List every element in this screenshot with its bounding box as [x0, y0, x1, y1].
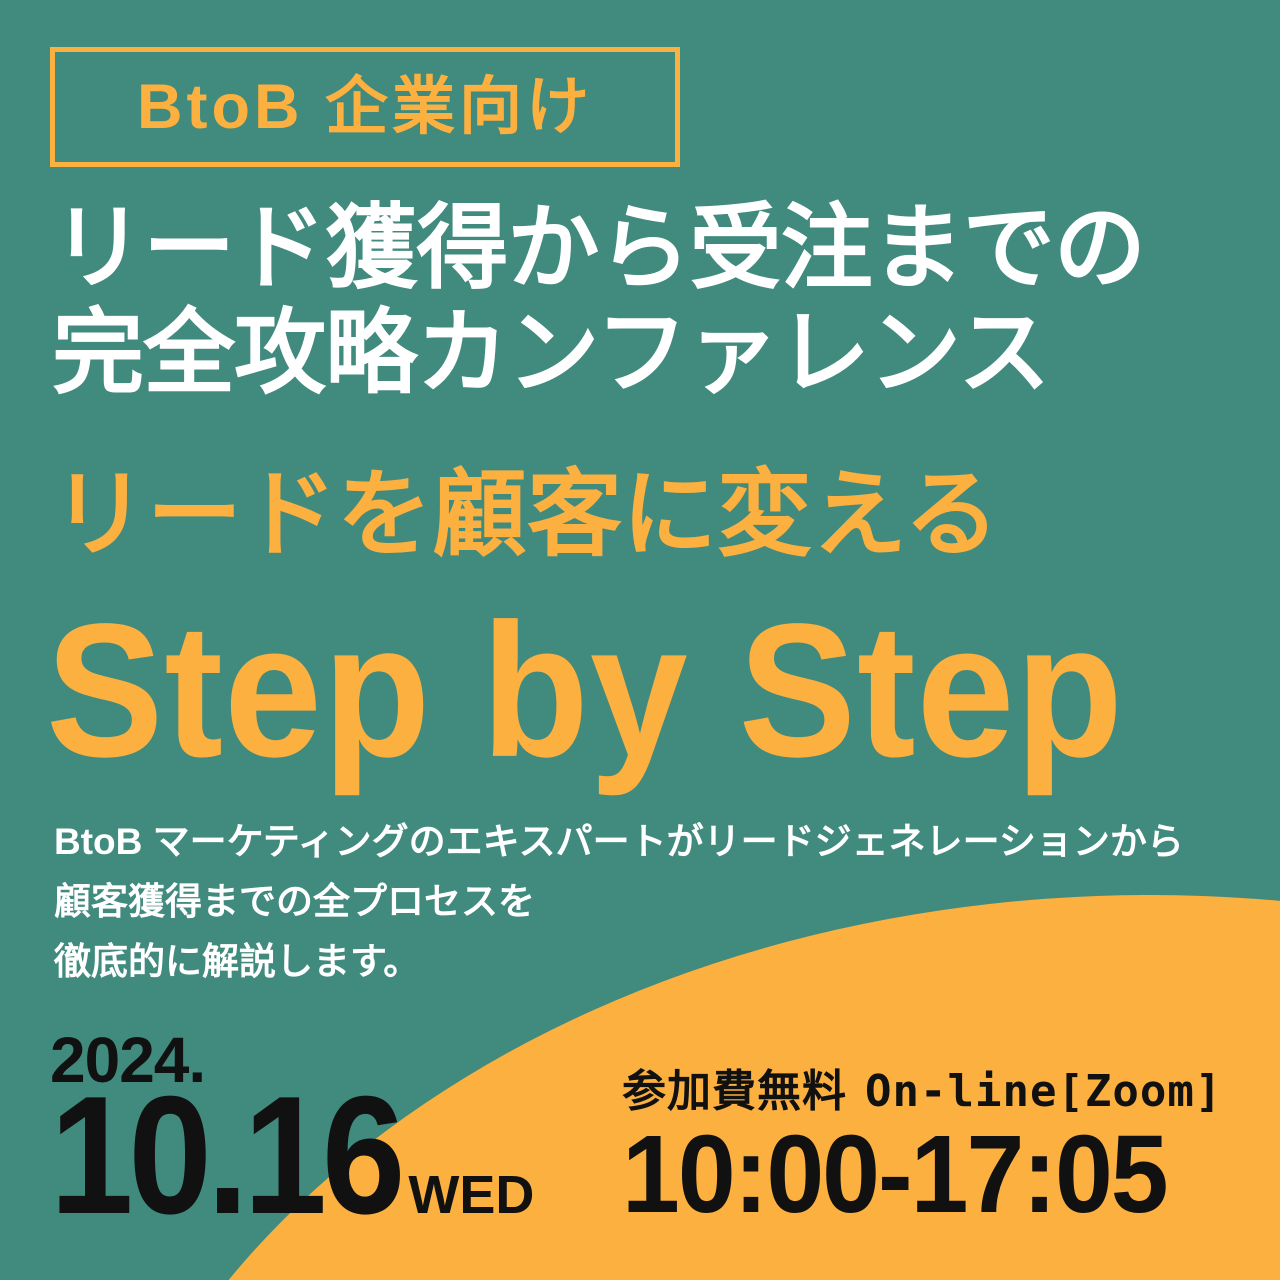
- tagline-text: Step by Step: [46, 596, 1266, 786]
- event-time: 10:00-17:05: [622, 1120, 1262, 1230]
- page-title: リード獲得から受注までの 完全攻略カンファレンス: [52, 196, 1252, 406]
- subheadline-line-1: リードを顧客に変える: [52, 463, 1252, 568]
- tagline: Step by Step: [46, 596, 1266, 772]
- description-line-2: 顧客獲得までの全プロセスを: [54, 872, 1264, 932]
- seminar-poster: BtoB 企業向け リード獲得から受注までの 完全攻略カンファレンス リードを顧…: [0, 0, 1280, 1280]
- event-info-block: 参加費無料 On-line[Zoom] 10:00-17:05: [622, 1070, 1262, 1224]
- event-platform: On-line[Zoom]: [865, 1070, 1222, 1114]
- headline-line-1: リード獲得から受注までの: [52, 196, 1240, 301]
- audience-badge-label: BtoB 企業向け: [137, 76, 593, 139]
- event-date-row: 10.16 WED: [50, 1094, 534, 1232]
- event-weekday: WED: [408, 1168, 534, 1222]
- event-date-block: 2024. 10.16 WED: [50, 1028, 534, 1232]
- description-paragraph: BtoB マーケティングのエキスパートがリードジェネレーションから 顧客獲得まで…: [54, 812, 1264, 992]
- description-line-3: 徹底的に解説します。: [54, 932, 1264, 992]
- event-fee: 参加費無料: [622, 1070, 847, 1114]
- headline-line-2: 完全攻略カンファレンス: [52, 301, 1240, 406]
- event-day: 10.16: [50, 1077, 400, 1232]
- description-line-1: BtoB マーケティングのエキスパートがリードジェネレーションから: [54, 812, 1264, 872]
- subheadline: リードを顧客に変える: [52, 463, 1252, 568]
- event-info-row: 参加費無料 On-line[Zoom]: [622, 1070, 1262, 1114]
- audience-badge: BtoB 企業向け: [50, 47, 680, 167]
